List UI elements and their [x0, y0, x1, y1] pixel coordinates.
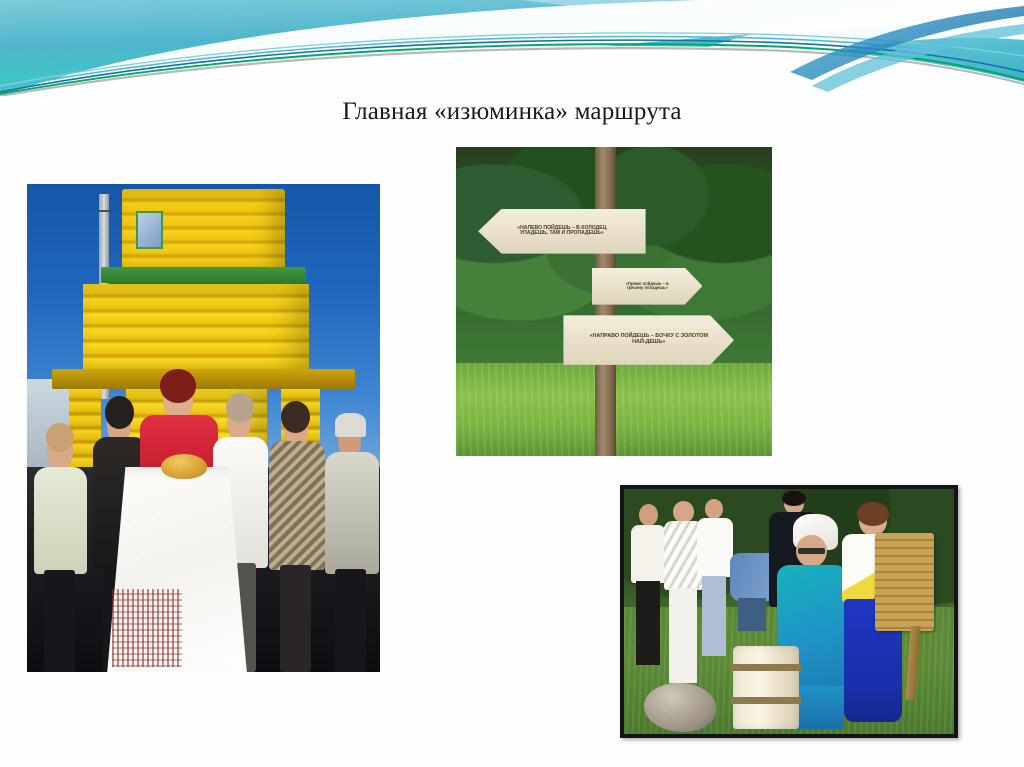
guest-head — [705, 499, 724, 519]
tower-roof-upper — [101, 267, 306, 283]
guest-torso — [631, 525, 666, 583]
guest-torso — [697, 518, 733, 578]
photo-group-with-bread[interactable] — [27, 184, 380, 672]
guest-figure — [697, 499, 733, 656]
photo-signposts[interactable]: «НАЛЕВО ПОЙДЕШЬ – В КОЛОДЕЦ УПАДЕШЬ, ТАМ… — [456, 147, 772, 456]
photo-content — [27, 184, 380, 672]
wooden-tub — [733, 646, 799, 729]
slide-canvas: Главная «изюминка» маршрута — [0, 0, 1024, 767]
bread-loaf — [161, 454, 207, 479]
person-hair — [105, 396, 134, 429]
guest-legs — [669, 588, 697, 682]
signpost-arrow-right[interactable]: «НАПРАВО ПОЙДЕШЬ – БОЧКУ С ЗОЛОТОМ НАЙ-Д… — [563, 315, 734, 364]
guest-hair — [782, 491, 806, 507]
guest-head — [639, 504, 659, 527]
person-legs — [335, 569, 367, 672]
person-figure — [31, 428, 91, 672]
person-hair — [160, 369, 196, 402]
wave-graphic — [0, 0, 1024, 96]
towel-embroidery — [112, 589, 183, 667]
performer-hair — [857, 502, 890, 526]
tower-window — [136, 211, 163, 249]
guest-head — [673, 501, 694, 523]
performer-glasses — [798, 548, 826, 554]
person-legs — [280, 565, 311, 672]
person-cap — [335, 413, 367, 436]
guest-legs — [636, 581, 659, 665]
log-tower-middle — [83, 284, 309, 377]
person-torso — [269, 441, 324, 570]
carved-wooden-signboard — [875, 533, 934, 631]
person-torso — [34, 467, 87, 574]
slide-title: Главная «изюминка» маршрута — [0, 96, 1024, 128]
photo-content — [624, 489, 954, 734]
guest-figure — [631, 504, 667, 666]
signpost-arrow-middle[interactable]: «Прямо пойдешь – в трясину попадешь» — [592, 268, 703, 305]
person-torso — [325, 452, 379, 574]
signpost-arrow-left[interactable]: «НАЛЕВО ПОЙДЕШЬ – В КОЛОДЕЦ УПАДЕШЬ, ТАМ… — [478, 209, 645, 254]
photo-folklore-scene[interactable] — [620, 485, 958, 738]
photo-content: «НАЛЕВО ПОЙДЕШЬ – В КОЛОДЕЦ УПАДЕШЬ, ТАМ… — [456, 147, 772, 456]
header-decorative-band — [0, 0, 1024, 96]
person-legs — [44, 570, 75, 672]
person-figure — [267, 404, 327, 672]
guest-legs — [738, 598, 766, 631]
boulder — [644, 683, 717, 732]
guest-legs — [702, 576, 726, 656]
person-figure — [324, 413, 380, 672]
